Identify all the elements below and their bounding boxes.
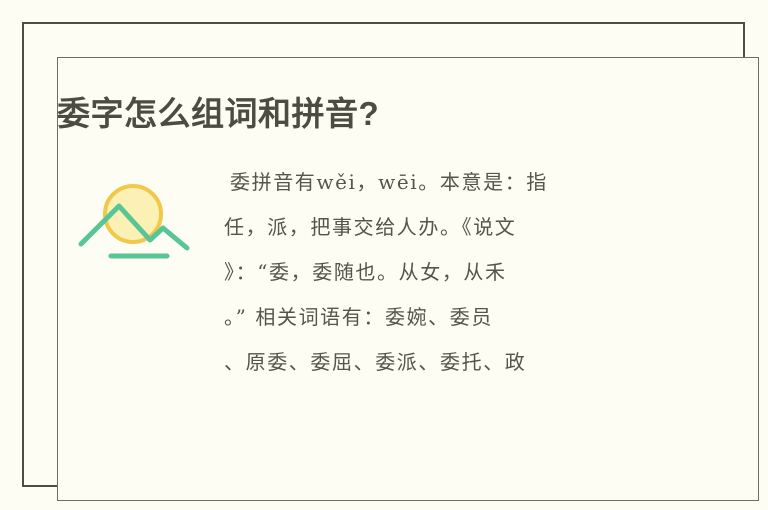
article-line: 委拼音有wěi，wēi。本意是：指	[224, 160, 656, 205]
article-content: 委拼音有wěi，wēi。本意是：指 任，派，把事交给人办。《说文 》：“委，委随…	[57, 160, 677, 410]
image-placeholder-landscape-icon	[75, 174, 195, 264]
page-title: 委字怎么组词和拼音?	[57, 94, 379, 134]
article-line: 任，派，把事交给人办。《说文	[224, 205, 656, 250]
article-line: 、原委、委屈、委派、委托、政	[224, 340, 656, 385]
article-line: 。” 相关词语有：委婉、委员	[224, 295, 656, 340]
article-body: 委拼音有wěi，wēi。本意是：指 任，派，把事交给人办。《说文 》：“委，委随…	[224, 160, 656, 406]
landscape-icon-svg	[75, 174, 195, 264]
article-line: 》：“委，委随也。从女，从禾	[224, 250, 656, 295]
page-root: 委字怎么组词和拼音? 委拼音有wěi，wēi。本意是：指 任，派，把事交给人办。…	[0, 0, 768, 510]
